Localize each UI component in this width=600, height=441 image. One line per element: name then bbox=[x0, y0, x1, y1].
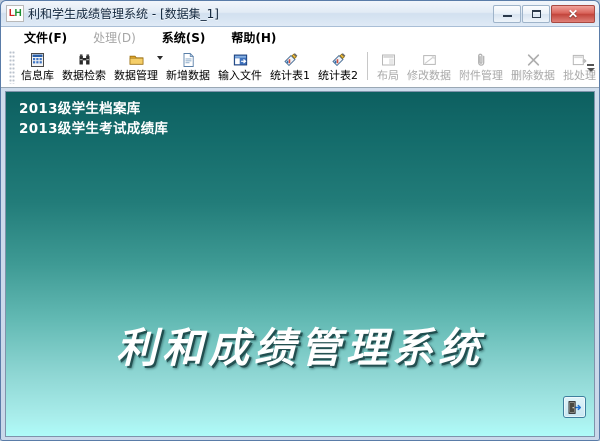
toolbar-button-layout: 布局 bbox=[373, 49, 403, 82]
mdi-canvas: 2013级学生档案库 2013级学生考试成绩库 利和成绩管理系统 bbox=[5, 91, 595, 437]
toolbar-button-add-data[interactable]: 新增数据 bbox=[162, 49, 214, 82]
toolbar-label-info-db: 信息库 bbox=[21, 69, 54, 82]
toolbar-button-search-data[interactable]: 数据检索 bbox=[58, 49, 110, 82]
application-window: LH 利和学生成绩管理系统 - [数据集_1] ✕ 文件(F) 处理(D) 系统… bbox=[0, 0, 600, 441]
menu-process: 处理(D) bbox=[80, 27, 149, 48]
toolbar-label-import-file: 输入文件 bbox=[218, 69, 262, 82]
toolbar-button-info-db[interactable]: 信息库 bbox=[17, 49, 58, 82]
toolbar-button-stats-1[interactable]: 统计表1 bbox=[266, 49, 314, 82]
toolbar-drag-grip[interactable] bbox=[9, 51, 15, 84]
toolbar-label-stats-1: 统计表1 bbox=[270, 69, 310, 82]
exit-icon bbox=[567, 400, 582, 415]
maximize-button[interactable] bbox=[522, 5, 550, 23]
maximize-icon bbox=[532, 10, 541, 18]
client-area: 2013级学生档案库 2013级学生考试成绩库 利和成绩管理系统 bbox=[1, 88, 599, 441]
toolbar-button-import-file[interactable]: 输入文件 bbox=[214, 49, 266, 82]
overflow-bar-icon bbox=[587, 64, 594, 66]
minimize-icon bbox=[503, 15, 512, 17]
toolbar-label-edit-data: 修改数据 bbox=[407, 69, 451, 82]
binoculars-icon bbox=[76, 52, 93, 68]
menu-help[interactable]: 帮助(H) bbox=[218, 27, 289, 48]
db-link-exam-scores[interactable]: 2013级学生考试成绩库 bbox=[19, 119, 168, 139]
toolbar-label-delete-data: 删除数据 bbox=[511, 69, 555, 82]
close-icon: ✕ bbox=[568, 8, 578, 20]
window-controls: ✕ bbox=[493, 5, 597, 23]
menu-bar: 文件(F) 处理(D) 系统(S) 帮助(H) bbox=[1, 27, 599, 49]
toolbar-label-attachments: 附件管理 bbox=[459, 69, 503, 82]
toolbar: 信息库 数据检索 数据管理 bbox=[1, 49, 599, 88]
window-title: 利和学生成绩管理系统 - [数据集_1] bbox=[28, 5, 219, 22]
toolbar-button-data-manage[interactable]: 数据管理 bbox=[110, 49, 162, 82]
database-grid-icon bbox=[29, 52, 46, 68]
chart-pen-icon bbox=[282, 52, 299, 68]
edit-pencil-icon bbox=[421, 52, 438, 68]
lh-app-icon: LH bbox=[6, 5, 24, 22]
toolbar-label-add-data: 新增数据 bbox=[166, 69, 210, 82]
toolbar-button-delete-data: 删除数据 bbox=[507, 49, 559, 82]
watermark-title: 利和成绩管理系统 bbox=[6, 314, 594, 374]
toolbar-separator bbox=[367, 52, 368, 80]
exit-button[interactable] bbox=[563, 396, 586, 418]
table-import-icon bbox=[232, 52, 249, 68]
database-link-list: 2013级学生档案库 2013级学生考试成绩库 bbox=[19, 99, 168, 139]
toolbar-label-layout: 布局 bbox=[377, 69, 399, 82]
toolbar-button-attachments: 附件管理 bbox=[455, 49, 507, 82]
document-new-icon bbox=[180, 52, 197, 68]
chart-pen-icon bbox=[330, 52, 347, 68]
toolbar-overflow-button[interactable] bbox=[585, 61, 596, 75]
menu-file[interactable]: 文件(F) bbox=[11, 27, 80, 48]
db-link-student-archive[interactable]: 2013级学生档案库 bbox=[19, 99, 168, 119]
menu-system[interactable]: 系统(S) bbox=[149, 27, 219, 48]
delete-x-icon bbox=[525, 52, 542, 68]
title-bar: LH 利和学生成绩管理系统 - [数据集_1] ✕ bbox=[1, 1, 599, 27]
toolbar-button-stats-2[interactable]: 统计表2 bbox=[314, 49, 362, 82]
paperclip-icon bbox=[473, 52, 490, 68]
toolbar-label-search-data: 数据检索 bbox=[62, 69, 106, 82]
toolbar-label-stats-2: 统计表2 bbox=[318, 69, 358, 82]
toolbar-button-edit-data: 修改数据 bbox=[403, 49, 455, 82]
folder-icon bbox=[128, 52, 145, 68]
chevron-down-icon bbox=[587, 68, 595, 72]
minimize-button[interactable] bbox=[493, 5, 521, 23]
toolbar-label-data-manage: 数据管理 bbox=[114, 69, 158, 82]
app-icon-letter-h: H bbox=[14, 9, 21, 19]
layout-grid-icon bbox=[380, 52, 397, 68]
close-button[interactable]: ✕ bbox=[551, 5, 595, 23]
